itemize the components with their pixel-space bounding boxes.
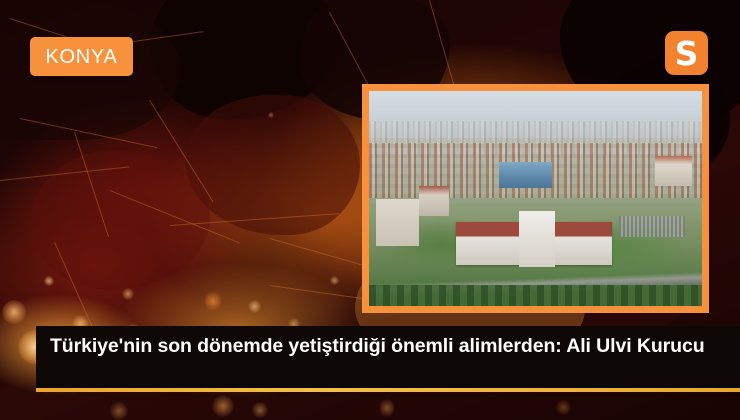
map-border-stroke — [20, 118, 157, 148]
bokeh-light — [205, 290, 221, 312]
news-card-screenshot: KONYA S Türkiye'nin son dönemde yetiştir… — [0, 0, 740, 420]
bokeh-light — [268, 112, 274, 118]
aerial-city-photo — [369, 91, 702, 306]
bokeh-light — [248, 300, 261, 313]
photo-tall-apartment — [376, 199, 419, 246]
photo-card — [362, 84, 709, 313]
map-border-stroke — [0, 166, 129, 181]
map-border-stroke — [110, 190, 240, 243]
s-logo[interactable]: S — [665, 31, 708, 75]
headline-text: Türkiye'nin son dönemde yetiştirdiği öne… — [50, 333, 726, 360]
bokeh-light — [556, 400, 571, 415]
bokeh-light — [110, 402, 128, 420]
bokeh-light — [252, 402, 268, 418]
bokeh-light — [44, 276, 54, 286]
photo-parking-lot — [619, 216, 686, 238]
bokeh-light — [122, 288, 134, 300]
photo-right-apartments — [655, 156, 692, 186]
photo-tree-line — [369, 285, 702, 307]
photo-blue-glass-tower — [499, 162, 552, 188]
photo-left-apartments — [419, 186, 449, 216]
map-border-stroke — [149, 100, 213, 202]
map-border-stroke — [170, 213, 340, 226]
location-badge-label: KONYA — [45, 47, 117, 67]
headline-bar: Türkiye'nin son dönemde yetiştirdiği öne… — [36, 326, 740, 388]
map-region — [30, 150, 210, 290]
bokeh-light — [212, 395, 234, 417]
map-region — [150, 0, 340, 120]
map-region — [185, 95, 360, 235]
bokeh-light — [380, 398, 394, 418]
photo-building-portal — [519, 211, 556, 267]
map-border-stroke — [74, 132, 109, 237]
bokeh-light — [2, 300, 26, 324]
bokeh-light — [330, 276, 339, 285]
headline-gold-rule — [36, 388, 740, 392]
s-logo-letter: S — [675, 37, 699, 70]
location-badge: KONYA — [30, 37, 133, 76]
